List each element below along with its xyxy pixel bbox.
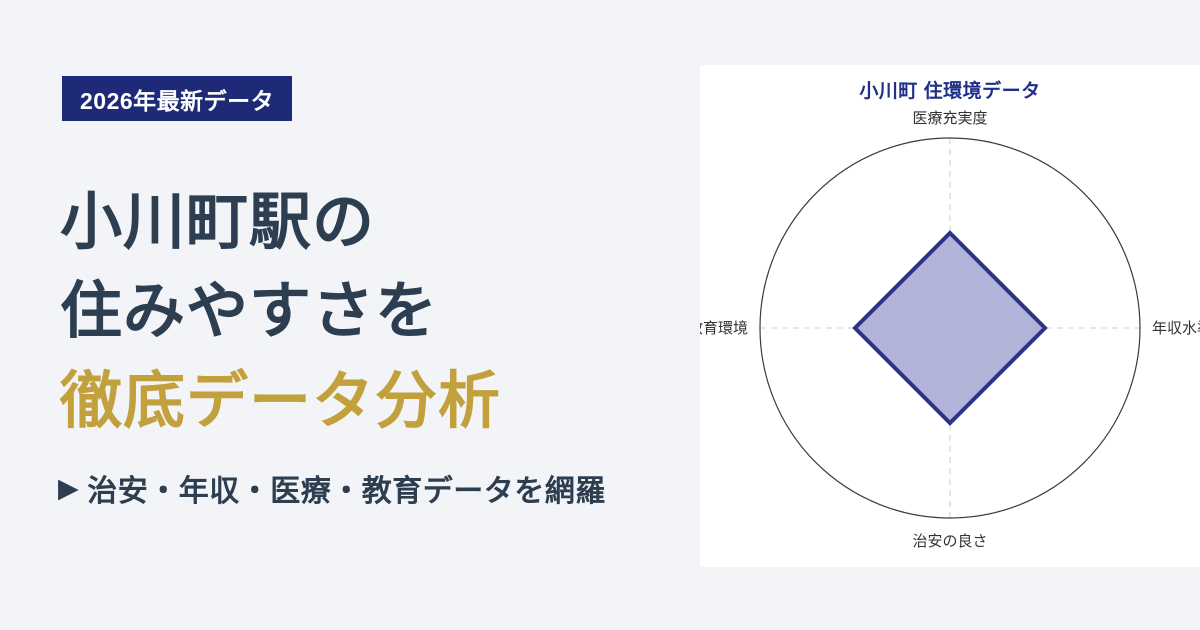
date-badge-label: 2026年最新データ xyxy=(80,82,274,116)
subtitle: ▶ 治安・年収・医療・教育データを網羅 xyxy=(58,466,606,510)
headline-line-2: 住みやすさを xyxy=(60,267,680,356)
subtitle-text: 治安・年収・医療・教育データを網羅 xyxy=(87,466,606,510)
radar-axis-label-right: 年収水準 xyxy=(1152,320,1200,337)
radar-chart: 医療充実度 年収水準 治安の良さ 教育環境 xyxy=(700,65,1200,567)
page-title: 小川町駅の 住みやすさを 徹底データ分析 xyxy=(60,178,680,446)
radar-axis-label-bottom: 治安の良さ xyxy=(912,533,987,550)
headline-line-3: 徹底データ分析 xyxy=(60,357,680,446)
triangle-marker-icon: ▶ xyxy=(58,475,79,502)
radar-data-polygon xyxy=(855,233,1045,423)
radar-chart-panel: 小川町 住環境データ 医療充実度 年収水準 治安の良さ 教育環境 xyxy=(700,65,1200,567)
radar-axis-label-left: 教育環境 xyxy=(700,319,748,337)
radar-axis-label-top: 医療充実度 xyxy=(912,110,987,127)
left-content-column: 2026年最新データ 小川町駅の 住みやすさを 徹底データ分析 ▶ 治安・年収・… xyxy=(0,0,700,630)
date-badge: 2026年最新データ xyxy=(62,76,292,121)
headline-line-1: 小川町駅の xyxy=(60,178,680,267)
